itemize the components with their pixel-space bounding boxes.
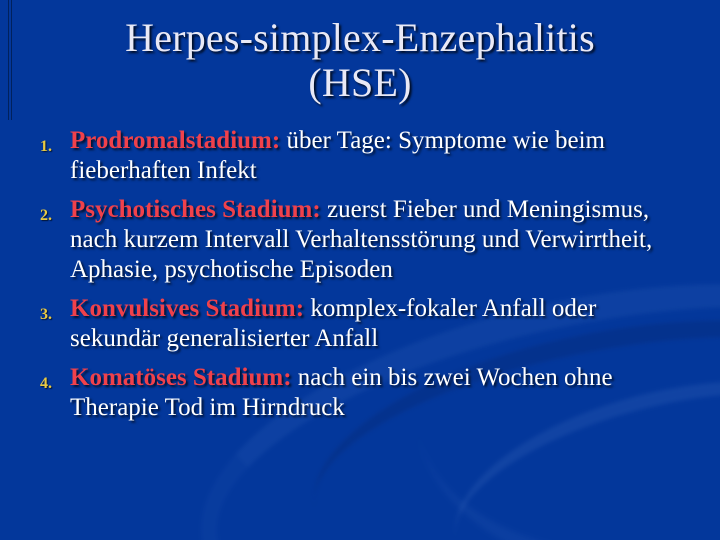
list-item-text: Psychotisches Stadium: zuerst Fieber und… [70, 195, 696, 285]
list-item-number: 1. [24, 126, 70, 155]
list-item-number: 4. [24, 363, 70, 392]
list-item-text: Komatöses Stadium: nach ein bis zwei Woc… [70, 363, 696, 423]
list-item-text: Konvulsives Stadium: komplex-fokaler Anf… [70, 294, 696, 354]
list-item: 4. Komatöses Stadium: nach ein bis zwei … [24, 363, 696, 423]
list-item: 1. Prodromalstadium: über Tage: Symptome… [24, 126, 696, 186]
stage-heading: Konvulsives Stadium: [70, 295, 304, 322]
list-item-number: 2. [24, 195, 70, 224]
list-item: 2. Psychotisches Stadium: zuerst Fieber … [24, 195, 696, 285]
stage-heading: Komatöses Stadium: [70, 364, 292, 391]
slide-title: Herpes-simplex-Enzephalitis (HSE) [40, 16, 680, 106]
stage-heading: Prodromalstadium: [70, 127, 280, 154]
list-item: 3. Konvulsives Stadium: komplex-fokaler … [24, 294, 696, 354]
staged-course-list: 1. Prodromalstadium: über Tage: Symptome… [24, 126, 696, 432]
list-item-number: 3. [24, 294, 70, 323]
background-seam-line [11, 0, 12, 120]
presentation-slide: Herpes-simplex-Enzephalitis (HSE) 1. Pro… [0, 0, 720, 540]
list-item-text: Prodromalstadium: über Tage: Symptome wi… [70, 126, 696, 186]
stage-heading: Psychotisches Stadium: [70, 196, 321, 223]
background-seam-line [8, 0, 9, 120]
